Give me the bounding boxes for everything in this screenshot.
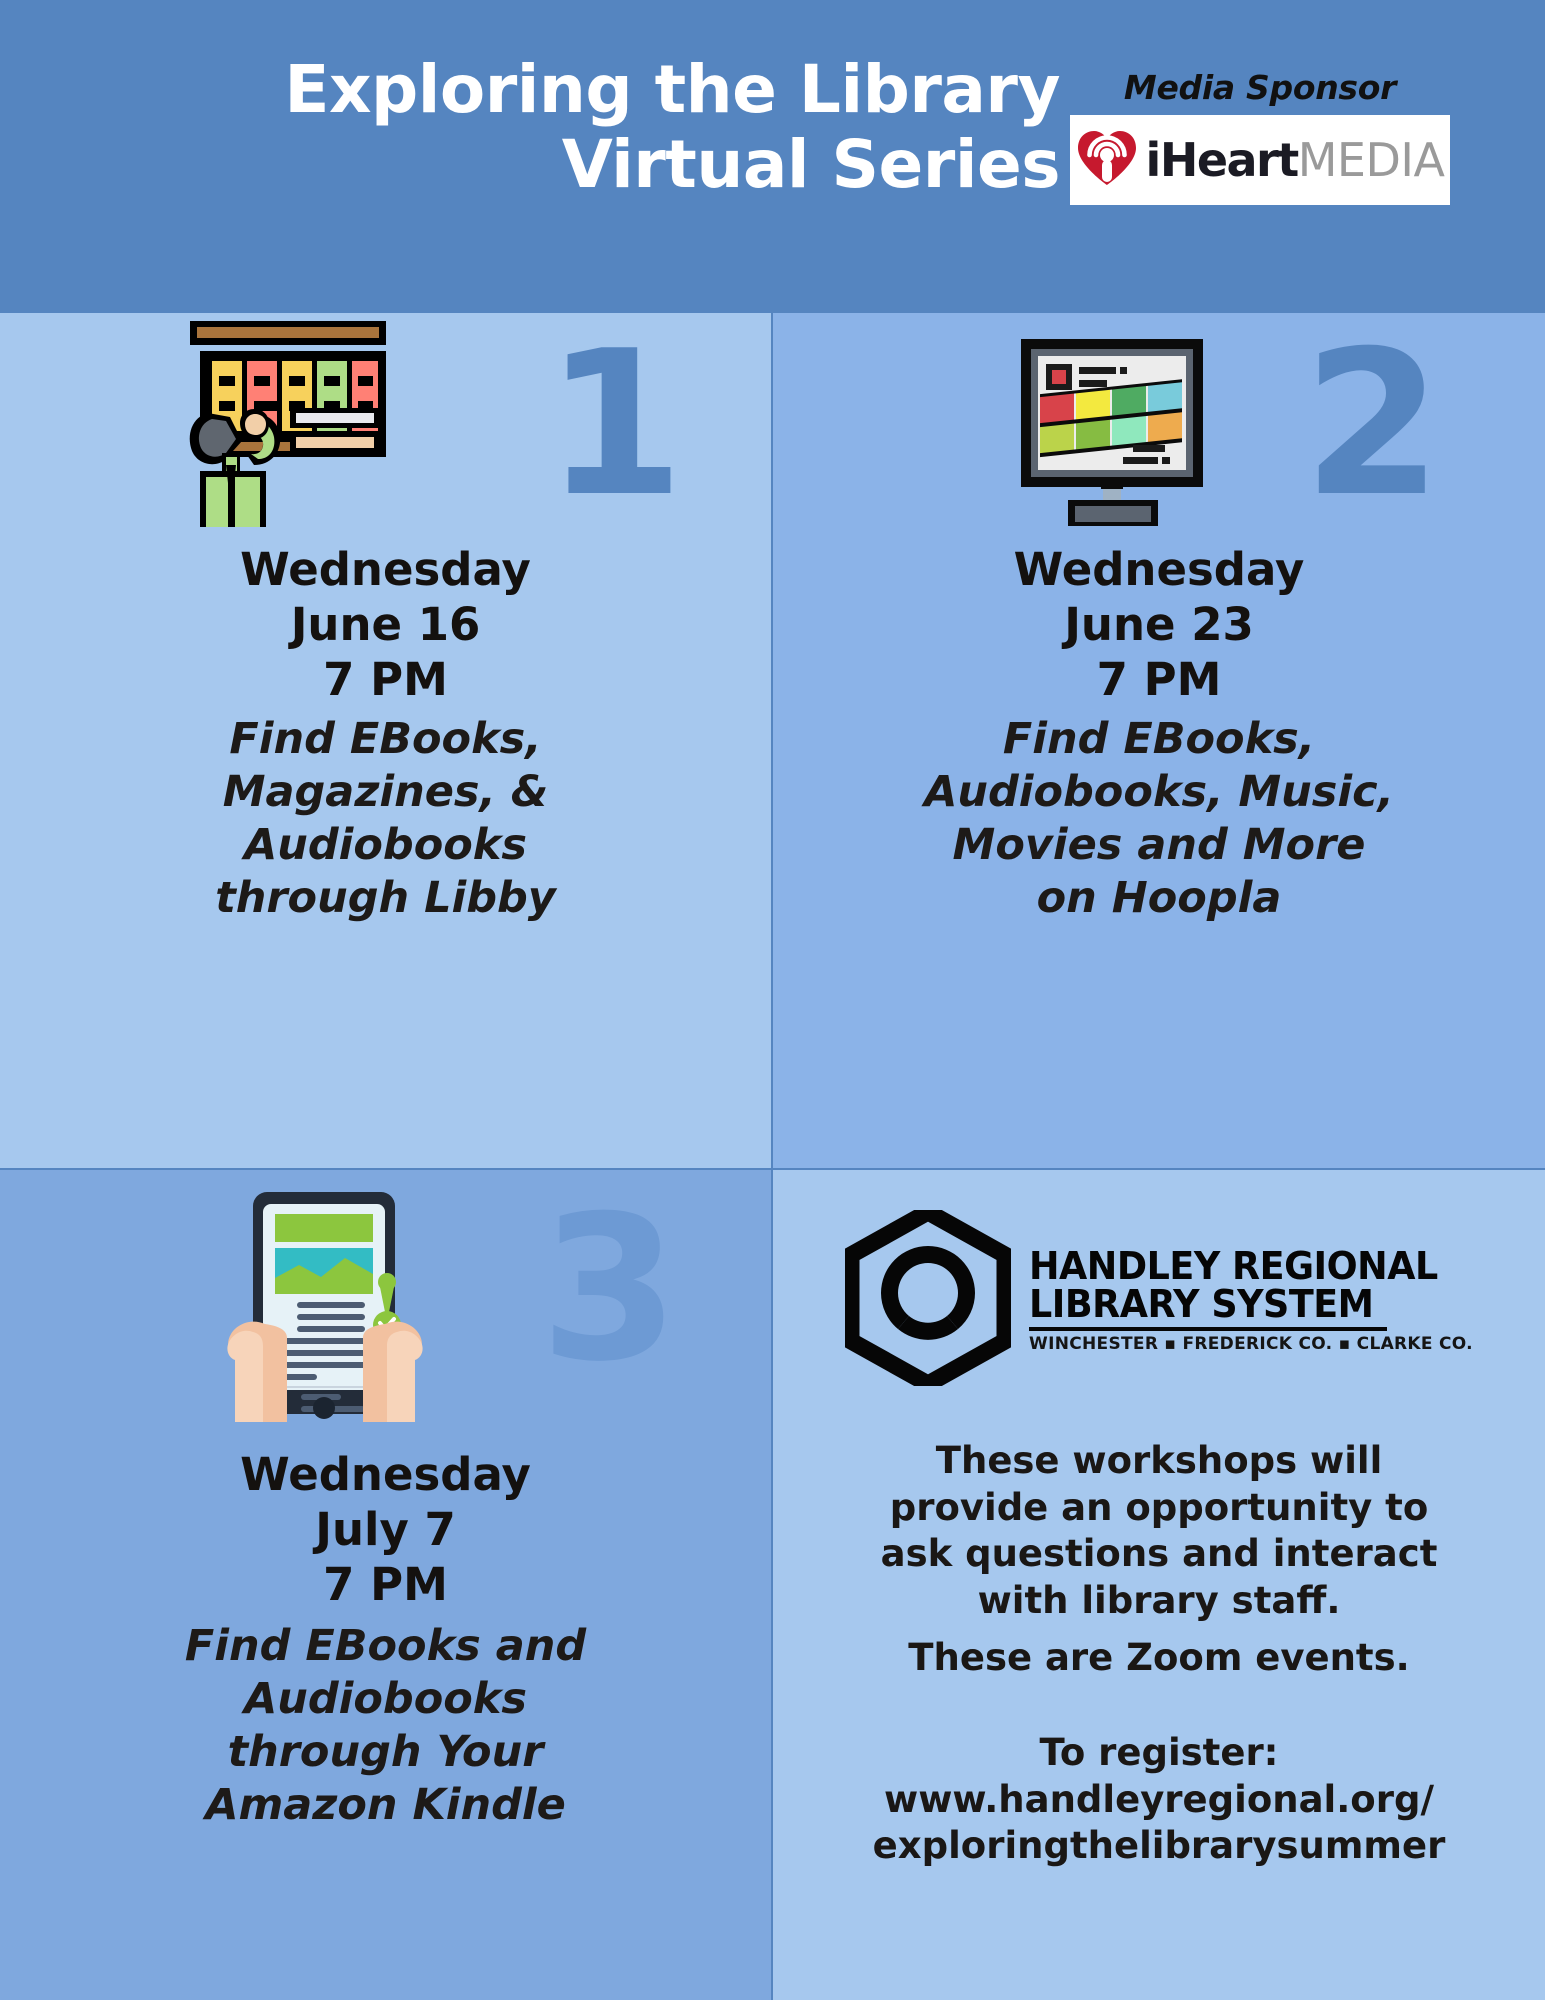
panel-2-desc-line-4: on Hoopla	[773, 872, 1545, 925]
info-p1-line-1: These workshops will	[773, 1438, 1545, 1485]
info-paragraph-2: These are Zoom events.	[773, 1635, 1545, 1682]
bookshelf-person-icon	[170, 313, 400, 532]
panel-3-desc-line-1: Find EBooks and	[0, 1620, 771, 1673]
panel-2-description: Find EBooks, Audiobooks, Music, Movies a…	[773, 713, 1545, 925]
panel-1-desc-line-2: Magazines, &	[0, 766, 771, 819]
panel-3-date-line-1: Wednesday	[0, 1448, 771, 1503]
panel-session-1: 1 Wednesday June 16 7 PM Find EBooks, Ma…	[0, 313, 771, 1168]
panel-1-date-line-1: Wednesday	[0, 543, 771, 598]
panel-2-date-line-1: Wednesday	[773, 543, 1545, 598]
panel-1-desc-line-4: through Libby	[0, 872, 771, 925]
registration-url-line-2[interactable]: exploringthelibrarysummer	[773, 1823, 1545, 1870]
registration-url-line-1[interactable]: www.handleyregional.org/	[773, 1777, 1545, 1824]
info-p3-line-1: To register:	[773, 1730, 1545, 1777]
info-p1-line-2: provide an opportunity to	[773, 1485, 1545, 1532]
handley-logo-line-1: HANDLEY REGIONAL	[1029, 1247, 1455, 1285]
iheart-light-text: MEDIA	[1298, 133, 1445, 187]
poster-header: Exploring the Library Virtual Series Med…	[0, 0, 1545, 313]
media-sponsor-label: Media Sponsor	[1050, 68, 1470, 107]
iheart-heart-icon	[1076, 129, 1138, 191]
panel-3-desc-line-3: through Your	[0, 1726, 771, 1779]
handley-logo-line-3: WINCHESTER ▪ FREDERICK CO. ▪ CLARKE CO.	[1029, 1334, 1473, 1354]
panel-2-desc-line-1: Find EBooks,	[773, 713, 1545, 766]
handley-logo-divider	[1029, 1327, 1387, 1331]
info-paragraph-3: To register: www.handleyregional.org/ ex…	[773, 1730, 1545, 1870]
info-p1-line-4: with library staff.	[773, 1578, 1545, 1625]
hands-holding-tablet-icon	[175, 1182, 475, 1426]
panel-info: HANDLEY REGIONAL LIBRARY SYSTEM WINCHEST…	[773, 1170, 1545, 2000]
iheart-bold-text: iHeart	[1146, 133, 1298, 187]
panel-1-date-line-2: June 16	[0, 598, 771, 653]
panel-2-desc-line-2: Audiobooks, Music,	[773, 766, 1545, 819]
panel-3-date: Wednesday July 7 7 PM	[0, 1448, 771, 1613]
panel-2-desc-line-3: Movies and More	[773, 819, 1545, 872]
computer-monitor-icon	[1013, 335, 1223, 534]
title-line-1: Exploring the Library	[60, 52, 1060, 127]
info-paragraph-1: These workshops will provide an opportun…	[773, 1438, 1545, 1624]
handley-hexagon-logo-icon	[845, 1210, 1011, 1390]
panel-1-description: Find EBooks, Magazines, & Audiobooks thr…	[0, 713, 771, 925]
poster-root: Exploring the Library Virtual Series Med…	[0, 0, 1545, 2000]
panel-3-desc-line-2: Audiobooks	[0, 1673, 771, 1726]
panel-2-date-line-2: June 23	[773, 598, 1545, 653]
panel-1-desc-line-1: Find EBooks,	[0, 713, 771, 766]
panel-number-3: 3	[540, 1190, 673, 1390]
panel-3-date-line-3: 7 PM	[0, 1558, 771, 1613]
panel-1-date: Wednesday June 16 7 PM	[0, 543, 771, 708]
media-sponsor-block: Media Sponsor iHeart MEDIA	[1050, 68, 1470, 205]
panel-number-1: 1	[545, 325, 678, 525]
panel-number-2: 2	[1303, 325, 1436, 525]
title-line-2: Virtual Series	[60, 127, 1060, 202]
panel-2-date-line-3: 7 PM	[773, 653, 1545, 708]
panel-3-date-line-2: July 7	[0, 1503, 771, 1558]
panel-1-date-line-3: 7 PM	[0, 653, 771, 708]
iheartmedia-wordmark: iHeart MEDIA	[1146, 133, 1445, 187]
info-p2-line-1: These are Zoom events.	[773, 1635, 1545, 1682]
panel-1-desc-line-3: Audiobooks	[0, 819, 771, 872]
panel-3-description: Find EBooks and Audiobooks through Your …	[0, 1620, 771, 1832]
panel-3-desc-line-4: Amazon Kindle	[0, 1779, 771, 1832]
handley-logo-text: HANDLEY REGIONAL LIBRARY SYSTEM WINCHEST…	[1029, 1247, 1473, 1354]
panel-session-2: 2 Wednesday June 23 7 PM Find EBooks, Au…	[773, 313, 1545, 1168]
poster-title: Exploring the Library Virtual Series	[60, 52, 1060, 202]
info-p1-line-3: ask questions and interact	[773, 1531, 1545, 1578]
iheartmedia-logo: iHeart MEDIA	[1070, 115, 1450, 205]
panel-grid: 1 Wednesday June 16 7 PM Find EBooks, Ma…	[0, 313, 1545, 2000]
panel-2-date: Wednesday June 23 7 PM	[773, 543, 1545, 708]
handley-logo-line-2: LIBRARY SYSTEM	[1029, 1285, 1455, 1323]
panel-session-3: 3 Wednesday July 7 7 PM Find EBooks and …	[0, 1170, 771, 2000]
handley-logo: HANDLEY REGIONAL LIBRARY SYSTEM WINCHEST…	[773, 1210, 1545, 1390]
